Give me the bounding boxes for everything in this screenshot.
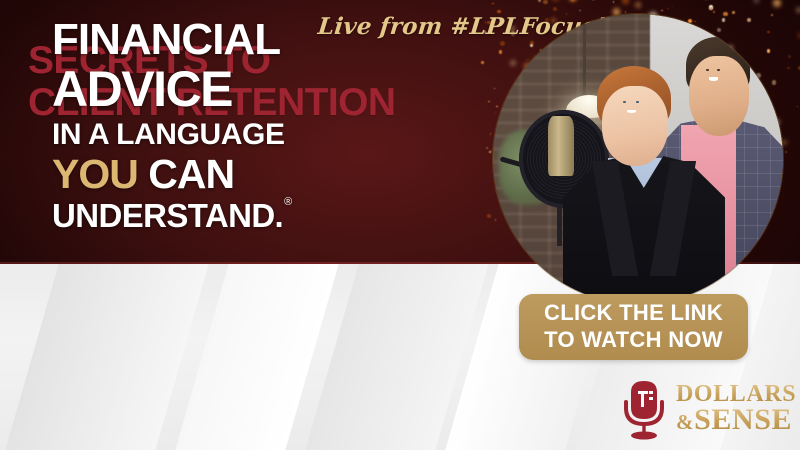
hosts-photo-inner	[493, 14, 783, 304]
headline-gold-word: YOU	[52, 151, 138, 197]
headline-line-3: IN A LANGUAGE	[52, 120, 382, 150]
cta-line-2: TO WATCH NOW	[544, 327, 723, 354]
smile	[627, 110, 636, 113]
logo-word-sense: &SENSE	[676, 406, 796, 435]
main-headline: FINANCIAL ADVICE IN A LANGUAGE YOU CAN U…	[52, 18, 382, 232]
headline-line-5-text: UNDERSTAND.	[52, 197, 283, 234]
headline-line-4: YOU CAN	[52, 154, 382, 195]
face	[602, 86, 669, 166]
microphone-icon	[618, 378, 670, 440]
promo-graphic: FINANCIAL ADVICE IN A LANGUAGE YOU CAN U…	[0, 0, 800, 450]
headline-line-4-rest: CAN	[148, 151, 234, 197]
hosts-photo	[493, 14, 783, 304]
logo-sense-text: SENSE	[694, 403, 792, 436]
logo-ampersand: &	[676, 410, 694, 434]
headline-line-5: UNDERSTAND.®	[52, 199, 382, 232]
cta-line-1: CLICK THE LINK	[544, 300, 723, 327]
host-foreground-young-man	[563, 66, 725, 304]
headline-line-2: ADVICE	[52, 64, 382, 114]
dollars-and-sense-logo[interactable]: DOLLARS &SENSE	[618, 376, 793, 442]
eye-left	[623, 101, 626, 103]
watch-now-button[interactable]: CLICK THE LINK TO WATCH NOW	[519, 294, 748, 360]
eye-right	[636, 101, 639, 103]
registered-trademark-icon: ®	[284, 196, 292, 208]
logo-wordmark: DOLLARS &SENSE	[676, 383, 796, 435]
